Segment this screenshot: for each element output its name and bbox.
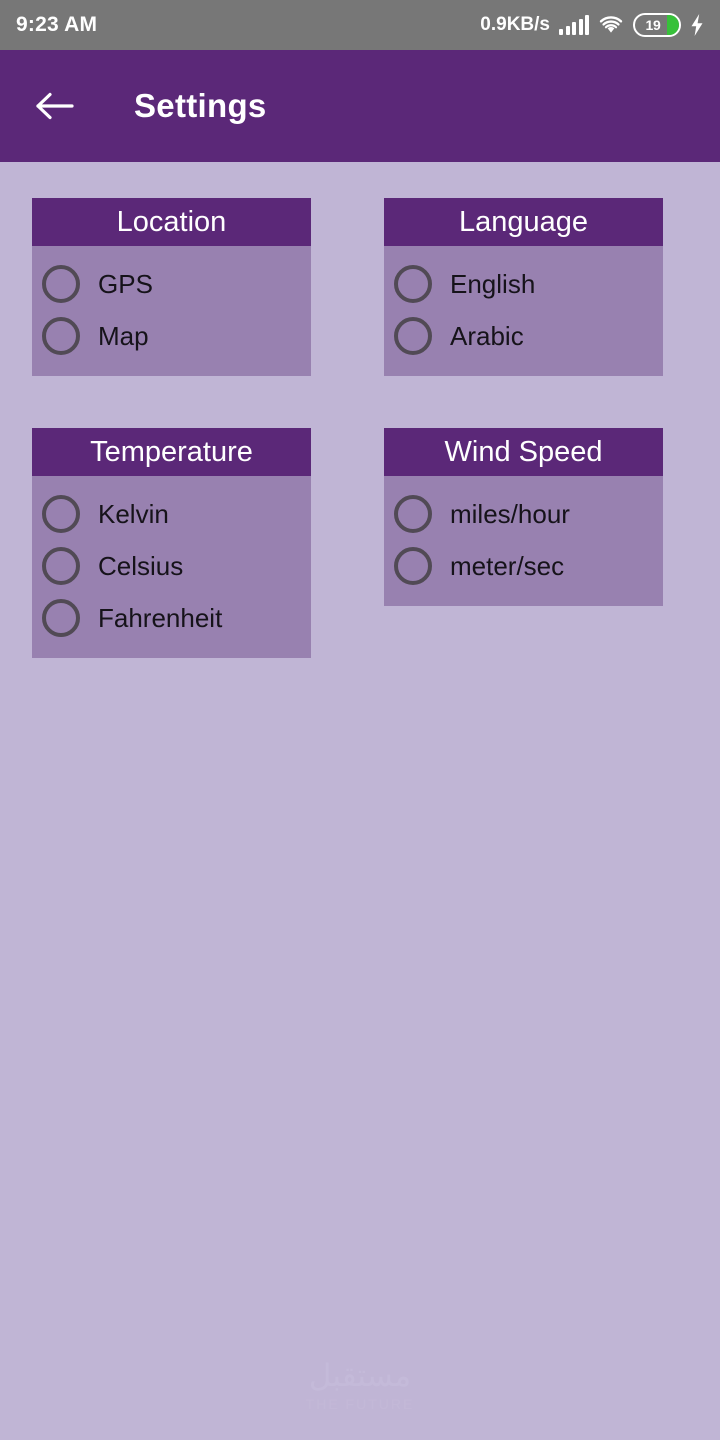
battery-icon: 19 [633, 13, 681, 37]
radio-option-label: English [450, 271, 535, 297]
radio-option-meter-per-sec[interactable]: meter/sec [384, 540, 663, 592]
card-header: Wind Speed [384, 428, 663, 476]
radio-button-icon[interactable] [42, 317, 80, 355]
card-body: Kelvin Celsius Fahrenheit [32, 476, 311, 658]
radio-option-label: GPS [98, 271, 153, 297]
settings-card-location: Location GPS Map [32, 198, 311, 376]
radio-option-arabic[interactable]: Arabic [384, 310, 663, 362]
radio-option-label: Kelvin [98, 501, 169, 527]
radio-option-celsius[interactable]: Celsius [32, 540, 311, 592]
charging-bolt-icon [690, 14, 704, 36]
card-body: miles/hour meter/sec [384, 476, 663, 606]
radio-button-icon[interactable] [42, 495, 80, 533]
radio-option-miles-per-hour[interactable]: miles/hour [384, 488, 663, 540]
status-bar-clock: 9:23 AM [16, 13, 97, 37]
arrow-left-icon [35, 91, 75, 121]
radio-option-label: Celsius [98, 553, 183, 579]
radio-option-map[interactable]: Map [32, 310, 311, 362]
network-speed-label: 0.9KB/s [480, 14, 550, 36]
settings-content: Location GPS Map Language [0, 162, 720, 658]
settings-card-language: Language English Arabic [384, 198, 663, 376]
card-body: GPS Map [32, 246, 311, 376]
card-header: Language [384, 198, 663, 246]
radio-button-icon[interactable] [42, 599, 80, 637]
settings-card-grid: Location GPS Map Language [0, 198, 720, 658]
radio-option-fahrenheit[interactable]: Fahrenheit [32, 592, 311, 644]
signal-bars-icon [559, 15, 589, 35]
radio-option-label: miles/hour [450, 501, 570, 527]
radio-button-icon[interactable] [42, 547, 80, 585]
radio-option-gps[interactable]: GPS [32, 258, 311, 310]
card-title: Temperature [90, 438, 253, 467]
status-bar: 9:23 AM 0.9KB/s 19 [0, 0, 720, 50]
app-bar: Settings [0, 50, 720, 162]
radio-button-icon[interactable] [394, 265, 432, 303]
radio-option-label: Arabic [450, 323, 524, 349]
watermark: مستقبل THE FUTURE [0, 1358, 720, 1412]
radio-option-label: Fahrenheit [98, 605, 222, 631]
back-button[interactable] [33, 84, 77, 128]
settings-card-temperature: Temperature Kelvin Celsius Fahrenheit [32, 428, 311, 658]
card-header: Temperature [32, 428, 311, 476]
card-body: English Arabic [384, 246, 663, 376]
watermark-line-2: THE FUTURE [0, 1396, 720, 1412]
radio-option-label: meter/sec [450, 553, 564, 579]
battery-level-label: 19 [646, 17, 661, 33]
radio-option-english[interactable]: English [384, 258, 663, 310]
radio-button-icon[interactable] [42, 265, 80, 303]
card-header: Location [32, 198, 311, 246]
radio-option-kelvin[interactable]: Kelvin [32, 488, 311, 540]
status-bar-indicators: 0.9KB/s 19 [480, 13, 704, 37]
card-title: Language [459, 208, 588, 237]
wifi-icon [598, 15, 624, 35]
radio-option-label: Map [98, 323, 149, 349]
radio-button-icon[interactable] [394, 547, 432, 585]
watermark-line-1: مستقبل [0, 1358, 720, 1394]
settings-card-wind-speed: Wind Speed miles/hour meter/sec [384, 428, 663, 606]
page-title: Settings [134, 87, 267, 125]
card-title: Location [117, 208, 227, 237]
radio-button-icon[interactable] [394, 317, 432, 355]
radio-button-icon[interactable] [394, 495, 432, 533]
card-title: Wind Speed [445, 438, 603, 467]
